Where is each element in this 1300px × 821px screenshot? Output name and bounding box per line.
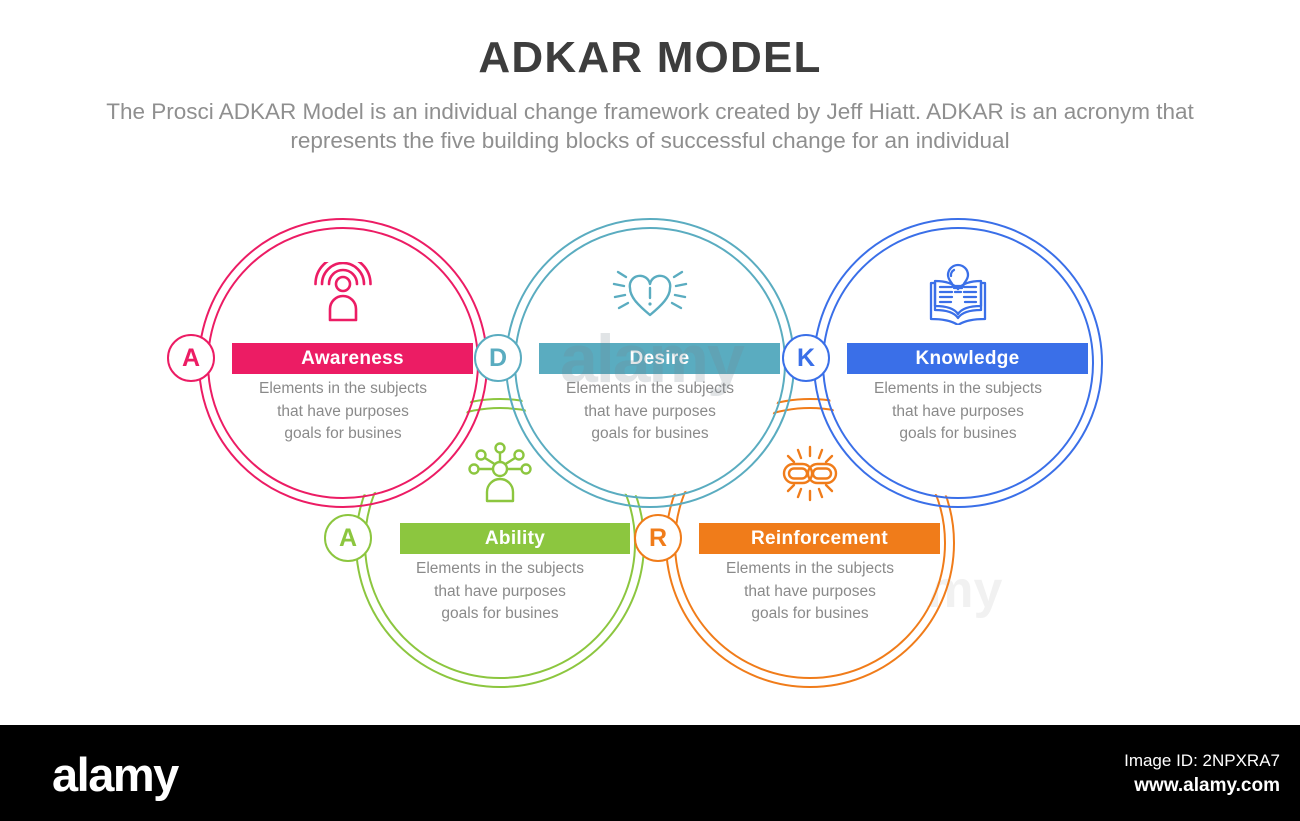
adkar-node-desire[interactable]: Desire D Elements in the subjects that h… [505,218,795,508]
node-description: Elements in the subjects that have purpo… [375,558,625,626]
badge-letter: A [182,346,200,371]
node-label: Knowledge [915,348,1019,370]
book-lightbulb-icon [813,250,1103,336]
description-line: that have purposes [833,401,1083,424]
description-line: Elements in the subjects [218,378,468,401]
node-description: Elements in the subjects that have purpo… [685,558,935,626]
node-badge-letter-a: A [167,334,215,382]
node-description: Elements in the subjects that have purpo… [833,378,1083,446]
badge-letter: A [339,526,357,551]
adkar-node-awareness[interactable]: Awareness A Elements in the subjects tha… [198,218,488,508]
node-badge-letter-d: D [474,334,522,382]
badge-letter: R [649,526,667,551]
node-banner: Reinforcement [699,523,940,554]
node-label: Ability [485,528,545,550]
node-description: Elements in the subjects that have purpo… [525,378,775,446]
node-banner: Knowledge [847,343,1088,374]
description-line: Elements in the subjects [525,378,775,401]
heart-exclamation-icon [505,250,795,336]
description-line: goals for busines [525,423,775,446]
description-line: goals for busines [833,423,1083,446]
description-line: Elements in the subjects [375,558,625,581]
node-description: Elements in the subjects that have purpo… [218,378,468,446]
description-line: goals for busines [685,603,935,626]
node-label: Reinforcement [751,528,888,550]
description-line: that have purposes [685,581,935,604]
alamy-url-text: www.alamy.com [1124,773,1280,799]
badge-letter: D [489,346,507,371]
description-line: Elements in the subjects [685,558,935,581]
node-banner: Ability [400,523,630,554]
node-label: Awareness [301,348,404,370]
node-banner: Desire [539,343,780,374]
alamy-logo: alamy [52,747,178,802]
description-line: Elements in the subjects [833,378,1083,401]
node-badge-letter-a2: A [324,514,372,562]
description-line: goals for busines [218,423,468,446]
badge-letter: K [797,346,815,371]
description-line: goals for busines [375,603,625,626]
node-label: Desire [630,348,690,370]
footer-meta: Image ID: 2NPXRA7 www.alamy.com [1124,749,1280,799]
description-line: that have purposes [218,401,468,424]
broadcast-person-icon [198,250,488,336]
description-line: that have purposes [525,401,775,424]
node-banner: Awareness [232,343,473,374]
description-line: that have purposes [375,581,625,604]
node-badge-letter-r: R [634,514,682,562]
adkar-node-knowledge[interactable]: Knowledge K Elements in the subjects tha… [813,218,1103,508]
adkar-diagram: Awareness A Elements in the subjects tha… [0,0,1300,725]
alamy-footer-bar: alamy Image ID: 2NPXRA7 www.alamy.com [0,725,1300,821]
node-badge-letter-k: K [782,334,830,382]
image-id-text: Image ID: 2NPXRA7 [1124,749,1280,773]
